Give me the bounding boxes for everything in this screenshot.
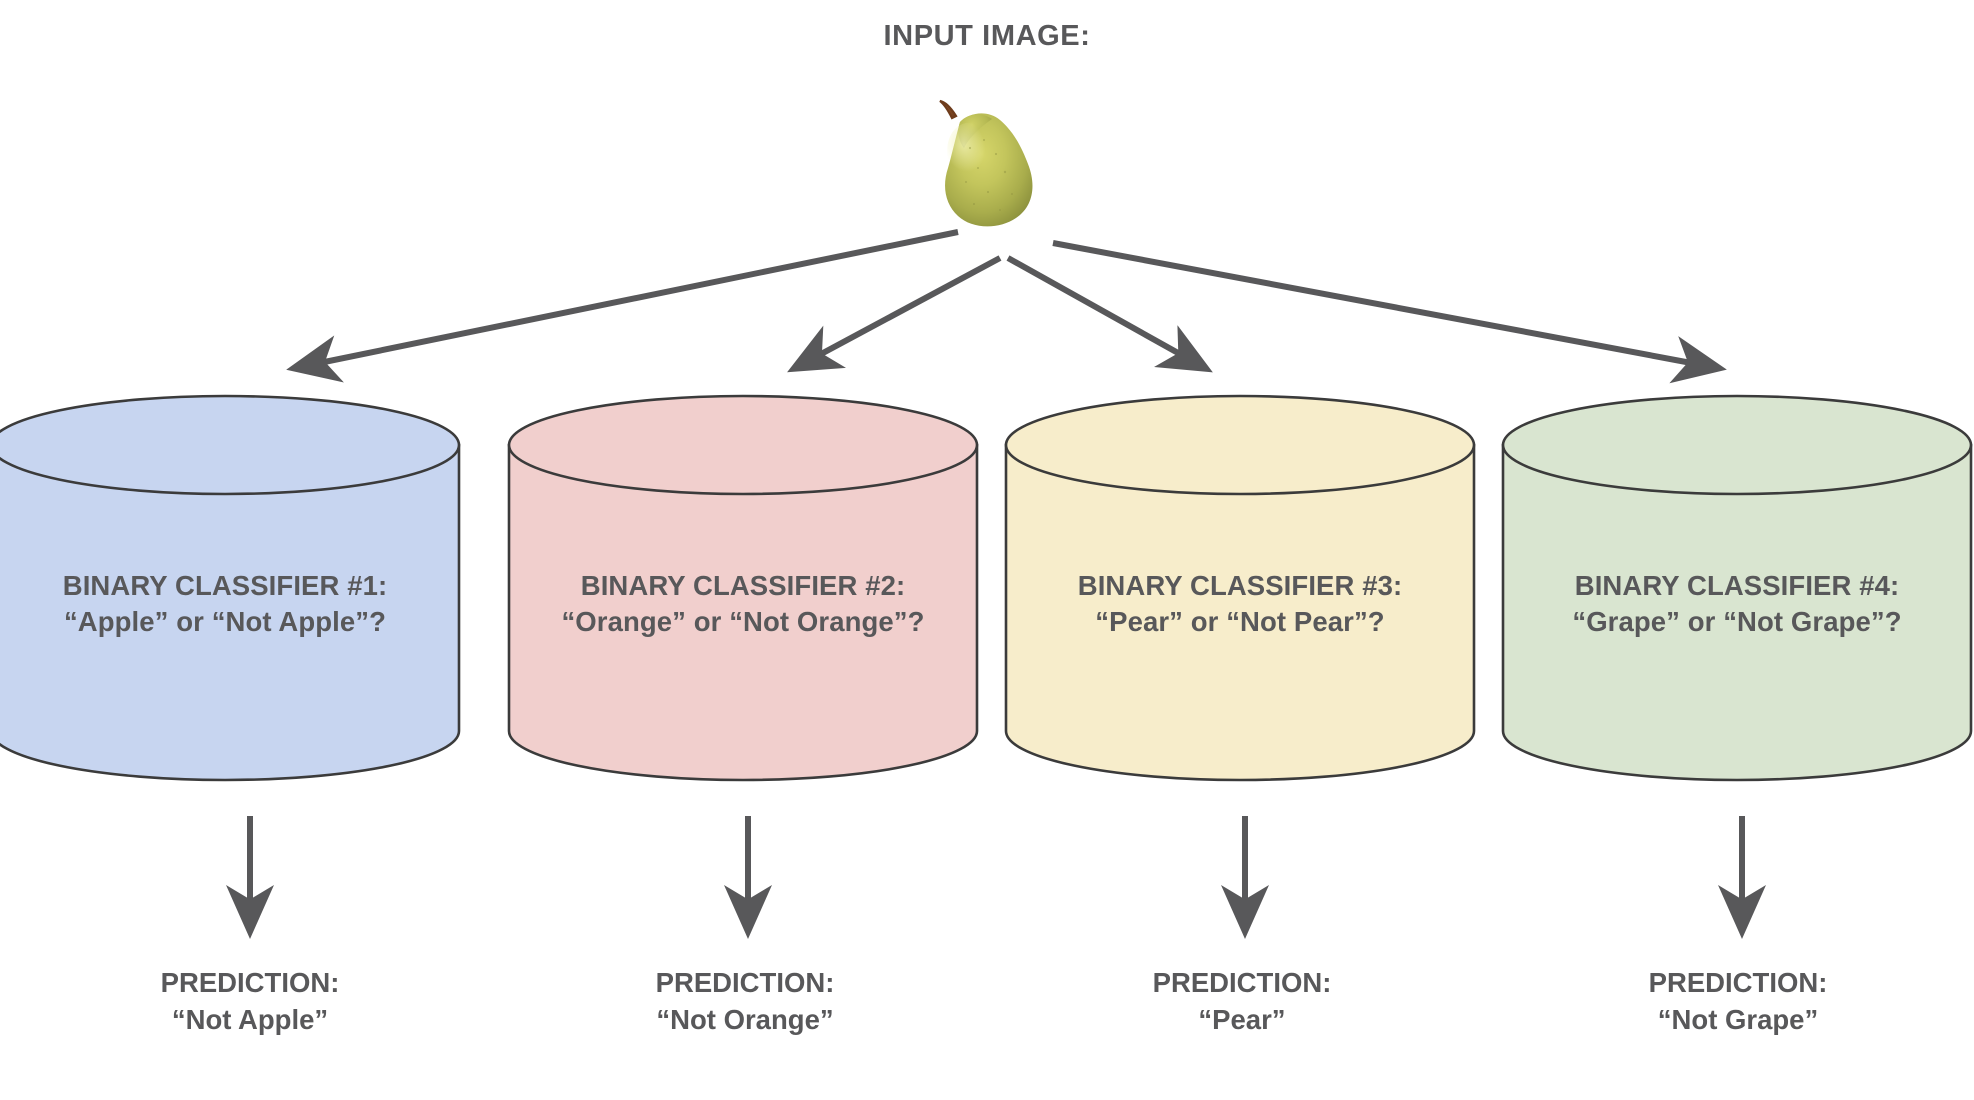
classifier-3-label: BINARY CLASSIFIER #3: “Pear” or “Not Pea… [1003,568,1477,641]
prediction-2-label: PREDICTION: [656,967,835,998]
classifier-4-question: “Grape” or “Not Grape”? [1500,604,1974,640]
classifier-2-question: “Orange” or “Not Orange”? [506,604,980,640]
classifier-4-label: BINARY CLASSIFIER #4: “Grape” or “Not Gr… [1500,568,1974,641]
arrow-input-to-classifier-3 [1008,258,1205,368]
classifier-1-title: BINARY CLASSIFIER #1: [63,570,388,601]
cylinder-top-1 [0,396,459,494]
binary-classifier-1[interactable]: BINARY CLASSIFIER #1: “Apple” or “Not Ap… [0,393,462,783]
binary-classifier-4[interactable]: BINARY CLASSIFIER #4: “Grape” or “Not Gr… [1500,393,1974,783]
prediction-4: PREDICTION: “Not Grape” [1528,965,1948,1039]
cylinder-top-4 [1503,396,1971,494]
page-title: INPUT IMAGE: [0,20,1974,53]
classifier-4-title: BINARY CLASSIFIER #4: [1575,570,1900,601]
binary-classifier-2[interactable]: BINARY CLASSIFIER #2: “Orange” or “Not O… [506,393,980,783]
prediction-4-value: “Not Grape” [1528,1002,1948,1039]
prediction-3-label: PREDICTION: [1153,967,1332,998]
classifier-2-label: BINARY CLASSIFIER #2: “Orange” or “Not O… [506,568,980,641]
cylinder-top-2 [509,396,977,494]
prediction-1-value: “Not Apple” [40,1002,460,1039]
pear-image [912,96,1062,241]
prediction-2-value: “Not Orange” [535,1002,955,1039]
arrow-input-to-classifier-2 [795,258,1000,368]
prediction-1: PREDICTION: “Not Apple” [40,965,460,1039]
prediction-1-label: PREDICTION: [161,967,340,998]
arrow-input-to-classifier-4 [1053,243,1718,368]
arrow-input-to-classifier-1 [295,232,958,368]
diagram-canvas: INPUT IMAGE: [0,0,1974,1100]
classifier-1-label: BINARY CLASSIFIER #1: “Apple” or “Not Ap… [0,568,462,641]
prediction-3: PREDICTION: “Pear” [1032,965,1452,1039]
cylinder-top-3 [1006,396,1474,494]
classifier-3-question: “Pear” or “Not Pear”? [1003,604,1477,640]
binary-classifier-3[interactable]: BINARY CLASSIFIER #3: “Pear” or “Not Pea… [1003,393,1477,783]
classifier-2-title: BINARY CLASSIFIER #2: [581,570,906,601]
classifier-3-title: BINARY CLASSIFIER #3: [1078,570,1403,601]
classifier-1-question: “Apple” or “Not Apple”? [0,604,462,640]
prediction-3-value: “Pear” [1032,1002,1452,1039]
prediction-4-label: PREDICTION: [1649,967,1828,998]
prediction-2: PREDICTION: “Not Orange” [535,965,955,1039]
